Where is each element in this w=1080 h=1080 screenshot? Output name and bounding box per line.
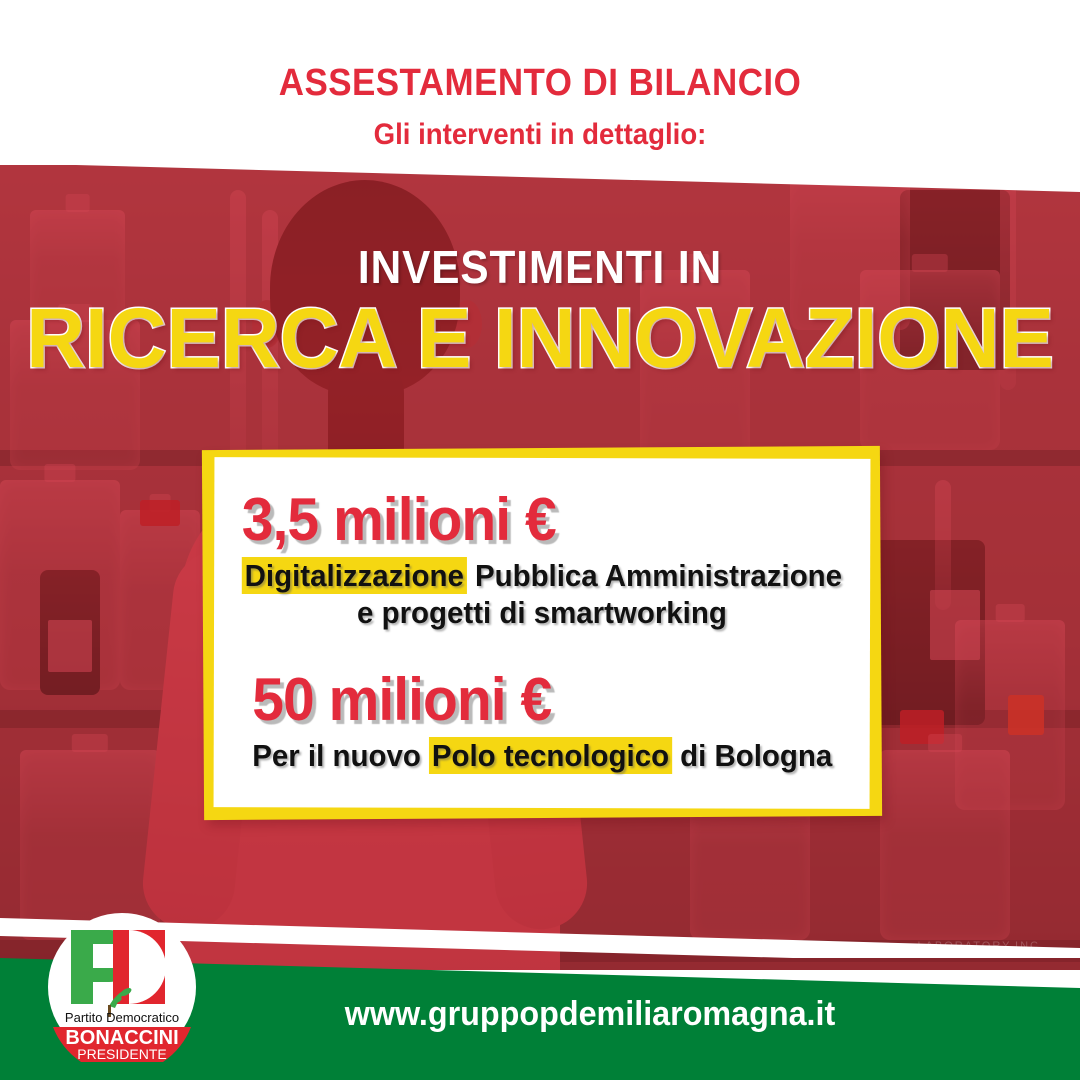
hero-heading-group: INVESTIMENTI IN RICERCA E INNOVAZIONE bbox=[0, 240, 1080, 382]
hero-heading-big: RICERCA E INNOVAZIONE bbox=[16, 296, 1064, 382]
page-subtitle: Gli interventi in dettaglio: bbox=[43, 118, 1037, 152]
website-url[interactable]: www.gruppopdemiliaromagna.it bbox=[258, 995, 923, 1034]
amount-value: 50 milioni € bbox=[252, 665, 832, 734]
hero-heading-small: INVESTIMENTI IN bbox=[43, 240, 1037, 294]
logo-party-name: Partito Democratico bbox=[65, 1010, 179, 1025]
description-text-pre: Per il nuovo bbox=[252, 738, 429, 773]
amount-value: 3,5 milioni € bbox=[242, 485, 842, 554]
logo-role: PRESIDENTE bbox=[77, 1046, 166, 1062]
header-bar: ASSESTAMENTO DI BILANCIO Gli interventi … bbox=[0, 0, 1080, 165]
pd-bonaccini-logo[interactable]: Partito Democratico BONACCINI PRESIDENTE bbox=[47, 912, 197, 1062]
amount-description: Digitalizzazione Pubblica Amministrazion… bbox=[242, 558, 842, 631]
description-text: Pubblica Amministrazione bbox=[467, 558, 842, 593]
amount-description: Per il nuovo Polo tecnologico di Bologna bbox=[252, 738, 832, 775]
logo-svg: Partito Democratico BONACCINI PRESIDENTE bbox=[47, 912, 197, 1062]
page-title: ASSESTAMENTO DI BILANCIO bbox=[43, 62, 1037, 105]
description-text-line2: e progetti di smartworking bbox=[357, 595, 727, 630]
card-item: 50 milioni € Per il nuovo Polo tecnologi… bbox=[237, 665, 848, 775]
poster-canvas: LABORATORY.INC INVESTIMENTI IN RICERCA E… bbox=[0, 0, 1080, 1080]
card-item: 3,5 milioni € Digitalizzazione Pubblica … bbox=[226, 485, 858, 631]
card-content: 3,5 milioni € Digitalizzazione Pubblica … bbox=[203, 448, 881, 818]
content-card: 3,5 milioni € Digitalizzazione Pubblica … bbox=[203, 448, 881, 818]
highlight-text: Polo tecnologico bbox=[429, 737, 672, 774]
highlight-text: Digitalizzazione bbox=[242, 557, 467, 594]
description-text-post: di Bologna bbox=[672, 738, 832, 773]
